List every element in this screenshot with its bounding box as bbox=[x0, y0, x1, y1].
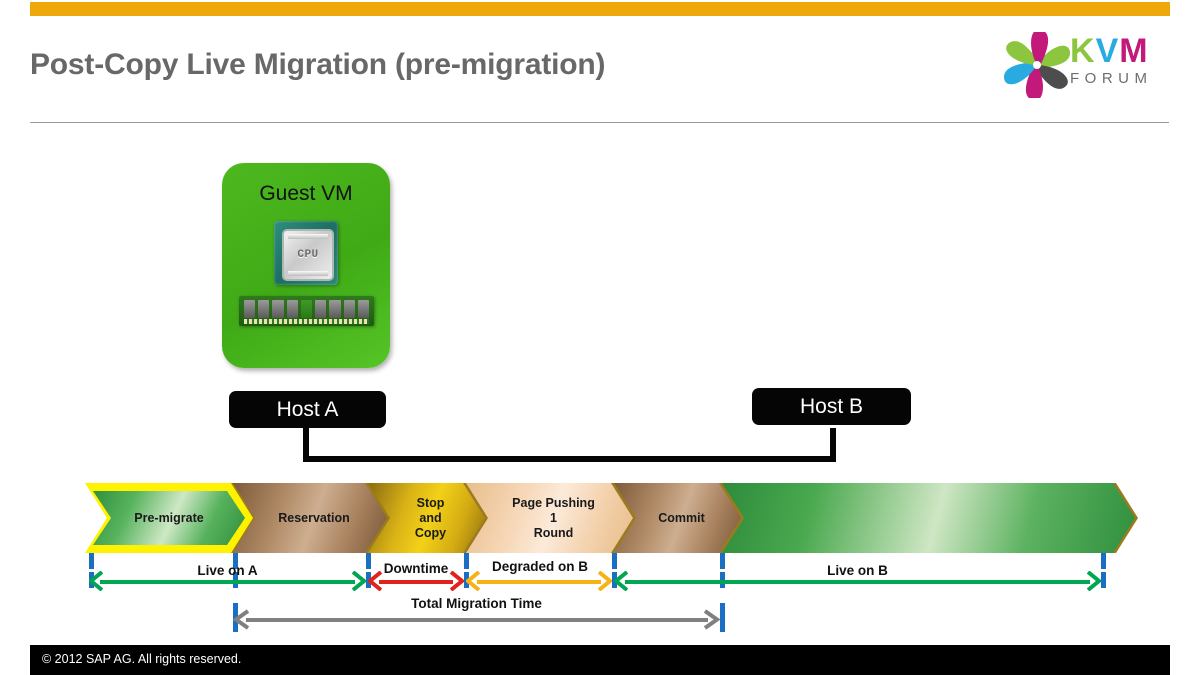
measure-label-total-migration-time: Total Migration Time bbox=[233, 596, 720, 611]
stage-label-line: and bbox=[419, 511, 441, 525]
memory-chip bbox=[287, 300, 298, 318]
stage-label-line: Stop bbox=[417, 496, 445, 510]
top-accent-bar bbox=[30, 2, 1170, 16]
stage-pre-migrate[interactable]: Pre-migrate bbox=[93, 491, 245, 545]
measure-line-degraded-on-b bbox=[477, 580, 601, 584]
logo-kvm-text: KVM bbox=[1070, 34, 1153, 68]
cpu-icon: CPU bbox=[274, 221, 338, 285]
stage-reservation[interactable]: Reservation bbox=[233, 483, 395, 553]
stage-label-reservation: Reservation bbox=[272, 511, 356, 526]
host-a-label: Host A bbox=[277, 398, 339, 422]
measure-line-downtime bbox=[379, 580, 453, 584]
host-connector-base bbox=[303, 456, 836, 462]
slide: Post-Copy Live Migration (pre-migration) bbox=[0, 0, 1200, 675]
arrowhead-right-total-migration-time bbox=[704, 609, 720, 630]
memory-chip-notch bbox=[301, 300, 312, 318]
memory-chip bbox=[244, 300, 255, 318]
measure-line-live-on-a bbox=[100, 580, 355, 584]
tick-t6-mid bbox=[1101, 572, 1106, 588]
measure-label-live-on-b: Live on B bbox=[614, 563, 1101, 578]
arrowhead-left-downtime bbox=[368, 571, 382, 591]
logo-forum-text: FORUM bbox=[1070, 70, 1153, 88]
memory-chip bbox=[344, 300, 355, 318]
stage-label-line: Page Pushing bbox=[512, 496, 595, 510]
memory-icon-pins bbox=[244, 319, 369, 324]
arrowhead-right-live-on-b bbox=[1087, 571, 1101, 591]
memory-chip bbox=[258, 300, 269, 318]
footer-copyright: © 2012 SAP AG. All rights reserved. bbox=[42, 652, 241, 666]
stage-label-page-pushing: Page Pushing 1 Round bbox=[506, 496, 601, 541]
arrowhead-left-degraded-on-b bbox=[466, 571, 480, 591]
host-a-box: Host A bbox=[229, 391, 386, 428]
page-title: Post-Copy Live Migration (pre-migration) bbox=[30, 48, 605, 82]
stage-label-line: Round bbox=[534, 526, 574, 540]
arrowhead-right-downtime bbox=[450, 571, 464, 591]
logo-letter-k: K bbox=[1070, 32, 1096, 70]
kvm-forum-logo: KVM FORUM bbox=[1000, 32, 1170, 104]
guest-vm-label: Guest VM bbox=[222, 182, 390, 206]
logo-wordmark: KVM FORUM bbox=[1070, 34, 1153, 88]
memory-chip bbox=[315, 300, 326, 318]
memory-icon-chips bbox=[244, 300, 369, 318]
host-b-label: Host B bbox=[800, 395, 863, 419]
measure-label-live-on-a: Live on A bbox=[89, 563, 366, 578]
memory-icon bbox=[239, 296, 374, 326]
memory-chip bbox=[272, 300, 283, 318]
arrowhead-left-total-migration-time bbox=[233, 609, 249, 630]
arrowhead-right-degraded-on-b bbox=[598, 571, 612, 591]
header-divider bbox=[30, 122, 1169, 123]
stage-post-migration[interactable] bbox=[722, 483, 1135, 553]
stage-label-pre-migrate: Pre-migrate bbox=[128, 511, 209, 526]
memory-chip bbox=[358, 300, 369, 318]
measure-label-degraded-on-b: Degraded on B bbox=[466, 559, 614, 574]
migration-timeline: Reservation Stop and Copy Page Pushing 1… bbox=[85, 483, 1135, 553]
arrowhead-left-live-on-b bbox=[614, 571, 628, 591]
host-connector bbox=[303, 428, 836, 462]
arrowhead-left-live-on-a bbox=[89, 571, 103, 591]
arrowhead-right-live-on-a bbox=[352, 571, 366, 591]
tick-t6-top bbox=[1101, 553, 1106, 569]
tick-t5-low bbox=[720, 603, 725, 632]
logo-letter-v: V bbox=[1096, 32, 1120, 70]
measure-line-live-on-b bbox=[625, 580, 1090, 584]
cpu-label: CPU bbox=[297, 249, 318, 261]
logo-letter-m: M bbox=[1119, 32, 1148, 70]
memory-chip bbox=[329, 300, 340, 318]
stage-label-line: 1 bbox=[550, 511, 557, 525]
stage-label-commit: Commit bbox=[652, 511, 711, 526]
measure-line-total-migration-time bbox=[246, 618, 708, 622]
stage-label-stop-and-copy: Stop and Copy bbox=[409, 496, 452, 541]
host-b-box: Host B bbox=[752, 388, 911, 425]
footer-bar: © 2012 SAP AG. All rights reserved. bbox=[30, 645, 1170, 675]
cpu-icon-die: CPU bbox=[282, 229, 334, 281]
kvm-pinwheel-icon bbox=[1000, 32, 1074, 98]
stage-label-line: Copy bbox=[415, 526, 446, 540]
stage-page-pushing[interactable]: Page Pushing 1 Round bbox=[466, 483, 641, 553]
guest-vm-box: Guest VM CPU bbox=[222, 163, 390, 368]
